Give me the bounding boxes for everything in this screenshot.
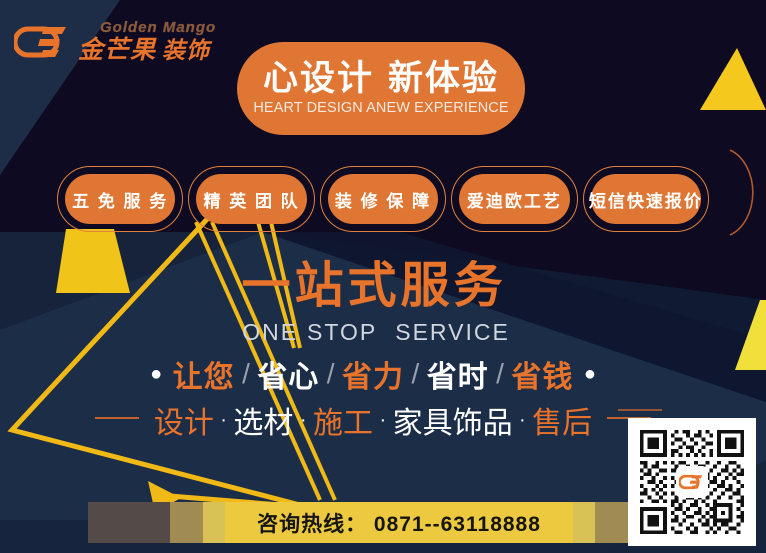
hotline-bar-segment-5 — [595, 502, 628, 543]
service-item-5: 售后 — [532, 407, 592, 440]
promo-poster: Golden Mango 金芒果装饰 心设计新体验 HEART DESIGN A… — [0, 0, 766, 553]
benefits-trail-dot: ● — [584, 363, 596, 385]
feature-pill-4-body: 爱迪欧工艺 — [459, 174, 569, 224]
benefits-separator-2: / — [327, 358, 335, 389]
feature-pill-row: 五 免 服 务 精 英 团 队 装 修 保 障 爱迪欧工艺 短信快速报价 — [57, 166, 709, 232]
benefit-item-2: 省心 — [257, 361, 319, 394]
hotline-bar-segment-2 — [170, 502, 203, 543]
one-stop-english: ONESTOPSERVICE — [0, 319, 766, 346]
feature-pill-2-body: 精 英 团 队 — [196, 174, 306, 224]
service-item-2: 选材 — [233, 407, 293, 440]
hotline-bar-segment-4 — [573, 502, 595, 543]
services-separator-2: · — [300, 409, 307, 431]
benefit-item-1: 让您 — [173, 361, 235, 394]
hotline-bar-segment-1 — [88, 502, 170, 543]
logo-chinese-main: 金芒果 — [78, 36, 156, 64]
golden-mango-g-mark-icon — [679, 472, 705, 492]
benefits-separator-4: / — [496, 358, 504, 389]
feature-pill-1-label: 五 免 服 务 — [72, 187, 168, 212]
feature-pill-4-label: 爱迪欧工艺 — [467, 187, 562, 212]
feature-pill-5[interactable]: 短信快速报价 — [583, 166, 709, 232]
benefit-item-4: 省时 — [427, 361, 489, 394]
one-stop-block: 一站式服务 ONESTOPSERVICE — [0, 262, 766, 346]
yellow-triangle-top-right — [700, 48, 766, 110]
qr-code[interactable] — [628, 418, 756, 546]
one-stop-english-1: ONE — [242, 319, 298, 345]
feature-pill-2[interactable]: 精 英 团 队 — [188, 166, 314, 232]
benefit-item-3: 省力 — [342, 361, 404, 394]
benefit-item-5: 省钱 — [511, 361, 573, 394]
one-stop-english-3: SERVICE — [395, 319, 510, 345]
logo-chinese-name: 金芒果装饰 — [78, 38, 216, 63]
feature-pill-1-body: 五 免 服 务 — [65, 174, 175, 224]
hotline-bar-segment-3 — [203, 502, 225, 543]
headline-banner: 心设计新体验 HEART DESIGN ANEW EXPERIENCE — [237, 42, 525, 135]
benefits-separator-3: / — [411, 358, 419, 389]
headline-chinese-part1: 心设计 — [263, 59, 374, 98]
benefits-lead-dot: ● — [150, 363, 162, 385]
feature-pill-5-label: 短信快速报价 — [589, 187, 703, 212]
feature-pill-4[interactable]: 爱迪欧工艺 — [451, 166, 577, 232]
feature-pill-5-body: 短信快速报价 — [591, 174, 701, 224]
feature-pill-2-label: 精 英 团 队 — [204, 187, 300, 212]
brand-logo: Golden Mango 金芒果装饰 — [14, 20, 216, 63]
services-rule-left — [95, 417, 139, 418]
feature-pill-1[interactable]: 五 免 服 务 — [57, 166, 183, 232]
feature-pill-3-body: 装 修 保 障 — [328, 174, 438, 224]
services-separator-4: · — [519, 409, 526, 431]
feature-pill-3-label: 装 修 保 障 — [335, 187, 431, 212]
headline-english: HEART DESIGN ANEW EXPERIENCE — [253, 100, 508, 116]
benefits-row: ● 让您 / 省心 / 省力 / 省时 / 省钱 ● — [0, 352, 756, 396]
service-item-1: 设计 — [154, 407, 214, 440]
headline-chinese: 心设计新体验 — [263, 61, 499, 98]
one-stop-english-2: STOP — [307, 319, 377, 345]
logo-english-name: Golden Mango — [100, 20, 216, 35]
services-separator-1: · — [220, 409, 227, 431]
logo-chinese-suffix: 装饰 — [162, 37, 210, 63]
hotline-bar: 咨询热线： 0871--63118888 — [88, 502, 678, 543]
hotline-bar-main: 咨询热线： 0871--63118888 — [225, 502, 573, 543]
headline-chinese-part2: 新体验 — [388, 59, 499, 98]
services-separator-3: · — [379, 409, 386, 431]
service-item-4: 家具饰品 — [393, 407, 513, 440]
golden-mango-g-mark-icon — [14, 21, 72, 63]
qr-center-logo — [676, 466, 708, 498]
hotline-text: 咨询热线： 0871--63118888 — [257, 508, 541, 538]
feature-pill-3[interactable]: 装 修 保 障 — [320, 166, 446, 232]
benefits-separator-1: / — [242, 358, 250, 389]
service-item-3: 施工 — [313, 407, 373, 440]
one-stop-chinese: 一站式服务 — [0, 262, 766, 311]
